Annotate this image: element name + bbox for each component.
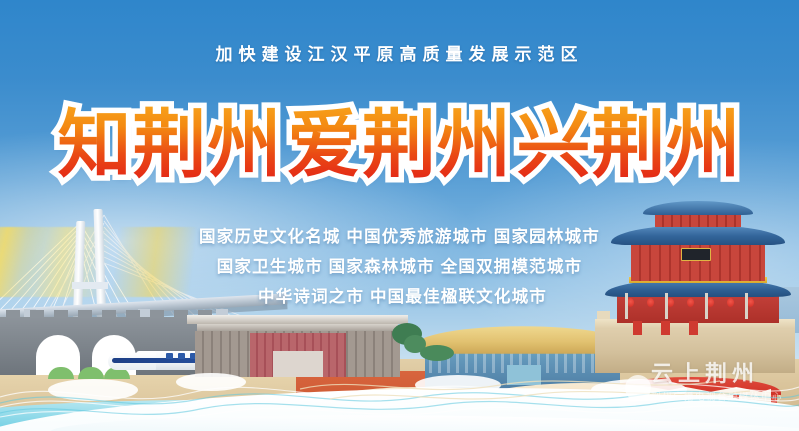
main-title-part-2: 爱荆州 爱荆州 — [287, 108, 512, 182]
main-title-part-3-fill: 兴荆州 — [516, 103, 741, 186]
museum-roof-lower — [197, 324, 398, 331]
subtitle-line-2: 国家卫生城市 国家森林城市 全国双拥模范城市 — [0, 252, 799, 282]
main-title-part-1: 知荆州 知荆州 — [58, 108, 283, 182]
main-title-part-1-fill: 知荆州 — [58, 103, 283, 186]
red-banner — [661, 321, 670, 335]
page-headline: 加快建设江汉平原高质量发展示范区 — [0, 40, 799, 65]
subtitle-line-1: 国家历史文化名城 中国优秀旅游城市 国家园林城市 — [0, 222, 799, 252]
main-title-part-2-fill: 爱荆州 — [287, 103, 512, 186]
wall-crenel — [597, 311, 610, 319]
red-banner — [633, 321, 642, 335]
main-title-part-3: 兴荆州 兴荆州 — [516, 108, 741, 182]
museum-roof — [187, 315, 408, 324]
subtitle-line-3: 中华诗词之市 中国最佳楹联文化城市 — [0, 282, 799, 312]
subtitle-block: 国家历史文化名城 中国优秀旅游城市 国家园林城市 国家卫生城市 国家森林城市 全… — [0, 222, 799, 312]
red-banner — [689, 321, 698, 335]
main-title: 知荆州 知荆州 爱荆州 爱荆州 兴荆州 兴荆州 — [0, 108, 799, 182]
stylized-wave-band — [0, 345, 799, 431]
jingzhou-city-promo-poster: 加快建设江汉平原高质量发展示范区 知荆州 知荆州 爱荆州 爱荆州 兴荆州 兴荆州… — [0, 0, 799, 431]
